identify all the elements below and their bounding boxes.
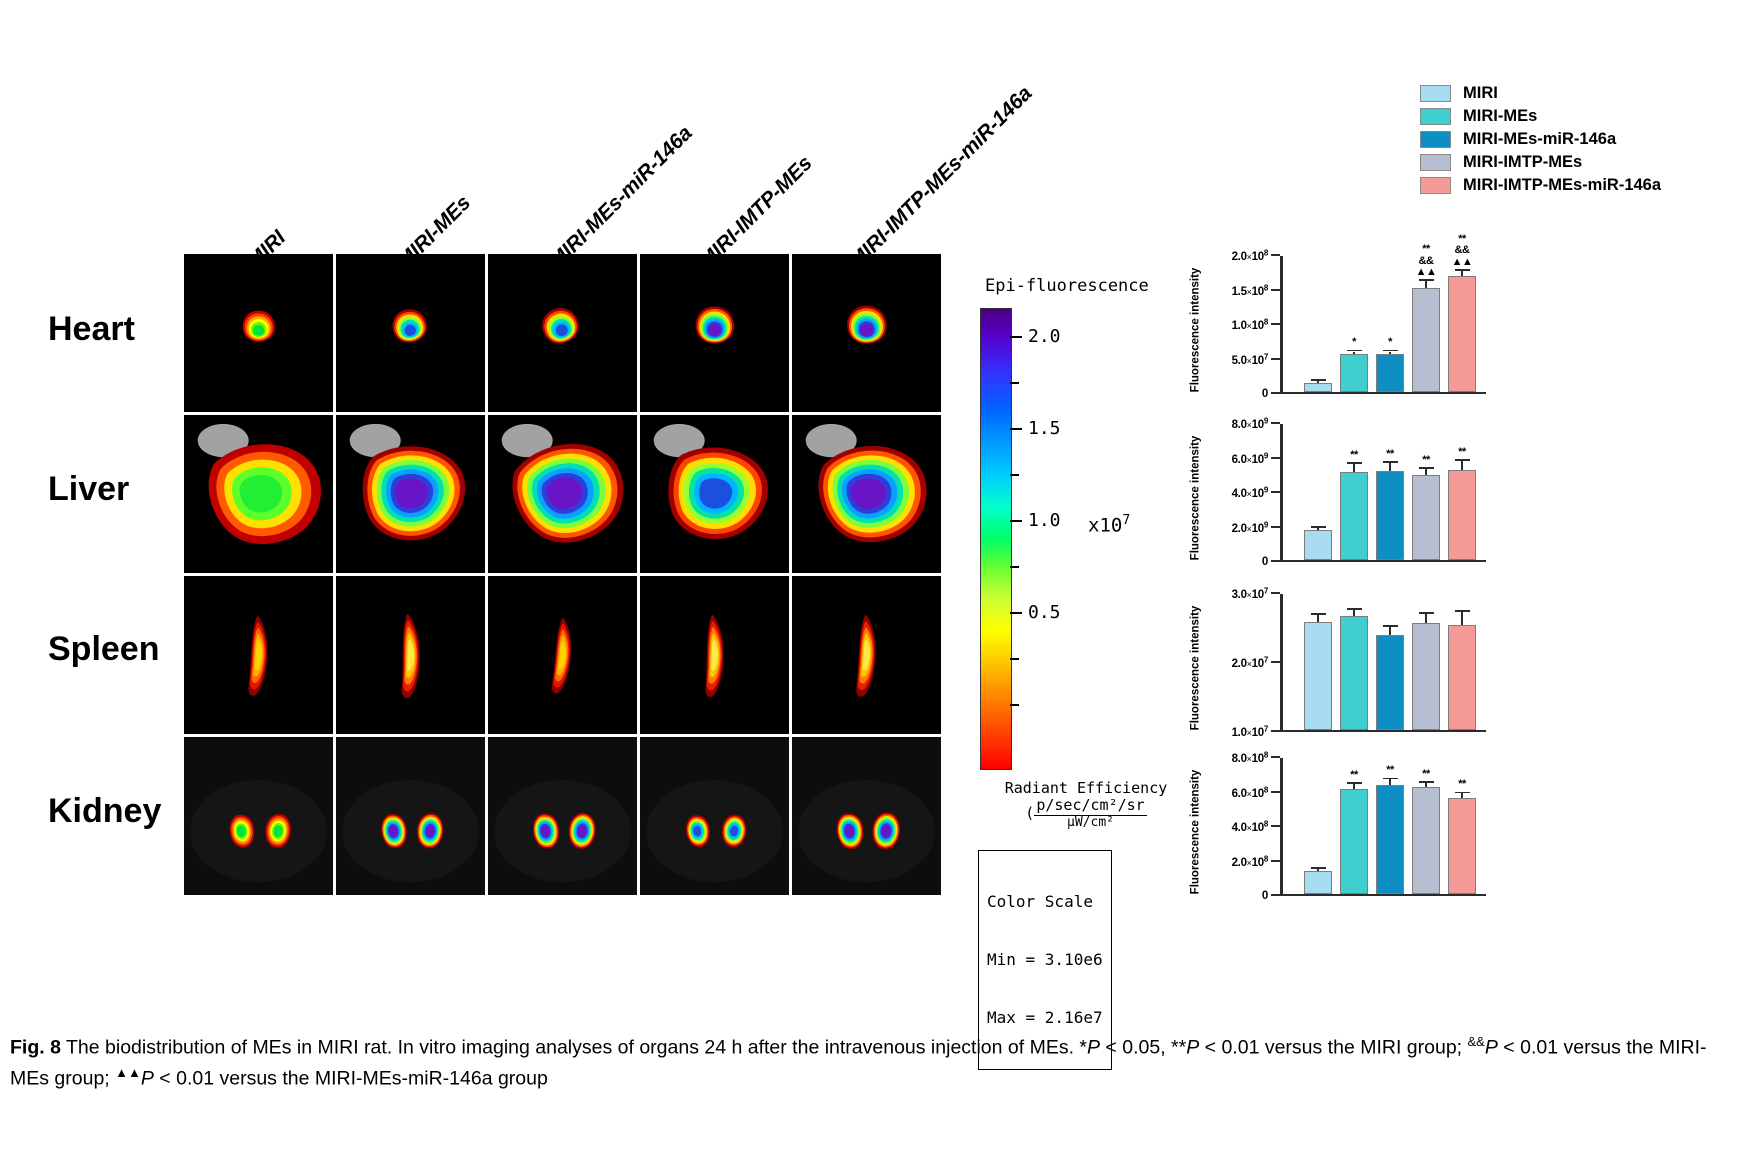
bar-liver-4[interactable] — [1448, 470, 1476, 560]
figure-panel: MIRIMIRI-MEsMIRI-MEs-miR-146aMIRI-IMTP-M… — [0, 0, 1738, 1010]
colorbar-tick-2 — [1010, 520, 1022, 522]
y-tick-label-0: 0 — [1262, 556, 1268, 568]
error-cap-spleen-4 — [1455, 610, 1470, 612]
bar-kidney-4[interactable] — [1448, 798, 1476, 894]
bar-spleen-1[interactable] — [1340, 616, 1368, 730]
error-cap-liver-0 — [1311, 526, 1326, 528]
y-axis-title-text: Fluorescence intensity — [1189, 436, 1201, 561]
organ-image-spleen-col4 — [640, 576, 792, 737]
x-axis-line — [1280, 392, 1486, 395]
caption-line1-c: < 0.01 versus the — [1199, 1037, 1355, 1059]
organ-image-kidney-col3 — [488, 737, 640, 898]
legend-swatch-1 — [1420, 108, 1451, 125]
significance-heart-2: * — [1370, 337, 1410, 348]
bar-chart-kidney: Fluorescence intensity02.0×1084.0×1086.0… — [1180, 752, 1500, 912]
bar-kidney-0[interactable] — [1304, 871, 1332, 893]
y-tick-2 — [1271, 825, 1280, 827]
caption-line1-a: The biodistribution of MEs in MIRI rat. … — [66, 1037, 1087, 1059]
bar-kidney-2[interactable] — [1376, 785, 1404, 894]
bar-chart-spleen: Fluorescence intensity1.0×1072.0×1073.0×… — [1180, 588, 1500, 748]
bar-heart-1[interactable] — [1340, 354, 1368, 392]
bar-spleen-3[interactable] — [1412, 623, 1440, 730]
y-axis-title-liver: Fluorescence intensity — [1186, 418, 1204, 578]
organ-image-spleen-col5 — [792, 576, 944, 737]
row-label-liver: Liver — [48, 470, 129, 509]
y-axis-line — [1280, 758, 1283, 896]
radiant-efficiency-denominator: µW/cm² — [1034, 816, 1146, 831]
bar-liver-1[interactable] — [1340, 472, 1368, 559]
color-scale-max: Max = 2.16e7 — [987, 1008, 1103, 1027]
legend-item-1[interactable]: MIRI-MEs — [1420, 105, 1661, 128]
y-tick-label-2: 4.0×108 — [1232, 820, 1268, 835]
epi-fluorescence-label: Epi-fluorescence — [985, 276, 1149, 296]
y-tick-label-4: 8.0×108 — [1232, 751, 1268, 766]
error-cap-heart-0 — [1311, 379, 1326, 381]
y-axis-line — [1280, 256, 1283, 394]
row-label-spleen: Spleen — [48, 630, 159, 669]
y-tick-label-0: 0 — [1262, 388, 1268, 400]
error-cap-liver-4 — [1455, 459, 1470, 461]
error-cap-spleen-3 — [1419, 612, 1434, 614]
y-tick-2 — [1271, 491, 1280, 493]
bar-chart-heart: Fluorescence intensity05.0×1071.0×1081.5… — [1180, 250, 1500, 410]
y-tick-label-3: 1.5×108 — [1232, 283, 1268, 298]
bar-heart-2[interactable] — [1376, 354, 1404, 391]
organ-image-heart-col2 — [336, 254, 488, 415]
error-bar-liver-0 — [1317, 528, 1319, 531]
colorbar-multiplier-exponent: 7 — [1122, 513, 1130, 528]
figure-caption: Fig. 8 The biodistribution of MEs in MIR… — [10, 1032, 1730, 1094]
y-tick-0 — [1271, 894, 1280, 896]
colorbar-multiplier: x107 — [1088, 513, 1130, 536]
organ-image-heart-col1 — [184, 254, 336, 415]
colorbar-minor-tick-2 — [1010, 566, 1019, 568]
error-bar-heart-2 — [1389, 352, 1391, 355]
color-scale-min: Min = 3.10e6 — [987, 950, 1103, 969]
y-tick-label-4: 8.0×109 — [1232, 417, 1268, 432]
organ-image-spleen-col1 — [184, 576, 336, 737]
error-bar-heart-4 — [1461, 271, 1463, 277]
y-tick-3 — [1271, 457, 1280, 459]
organ-image-kidney-col2 — [336, 737, 488, 898]
bar-spleen-4[interactable] — [1448, 625, 1476, 730]
significance-heart-4: **&&▲▲ — [1442, 234, 1482, 268]
legend-label-3: MIRI-IMTP-MEs — [1463, 153, 1582, 172]
plot-area-spleen: 1.0×1072.0×1073.0×107 — [1280, 594, 1486, 732]
radiant-efficiency-units: Radiant Efficiency (p/sec/cm²/srµW/cm² — [976, 780, 1196, 830]
colorbar-tick-1 — [1010, 428, 1022, 430]
y-tick-3 — [1271, 791, 1280, 793]
y-tick-0 — [1271, 730, 1280, 732]
bar-kidney-3[interactable] — [1412, 787, 1440, 894]
column-header-miri-imtp-mes-mir-146a: MIRI-IMTP-MEs-miR-146a — [845, 82, 1037, 274]
legend-item-4[interactable]: MIRI-IMTP-MEs-miR-146a — [1420, 174, 1661, 197]
error-cap-heart-3 — [1419, 279, 1434, 281]
legend-label-2: MIRI-MEs-miR-146a — [1463, 130, 1616, 149]
error-cap-heart-1 — [1347, 350, 1362, 352]
significance-kidney-1: ** — [1334, 770, 1374, 781]
y-axis-title-text: Fluorescence intensity — [1189, 268, 1201, 393]
plot-area-heart: 05.0×1071.0×1081.5×1082.0×108****&&▲▲**&… — [1280, 256, 1486, 394]
organ-image-liver-col4 — [640, 415, 792, 576]
bar-spleen-0[interactable] — [1304, 622, 1332, 730]
legend-swatch-2 — [1420, 131, 1451, 148]
bar-liver-2[interactable] — [1376, 471, 1404, 560]
organ-image-kidney-col1 — [184, 737, 336, 898]
error-bar-spleen-0 — [1317, 615, 1319, 622]
legend-label-1: MIRI-MEs — [1463, 107, 1537, 126]
y-tick-label-2: 4.0×109 — [1232, 486, 1268, 501]
error-bar-kidney-4 — [1461, 793, 1463, 797]
organ-image-kidney-col5 — [792, 737, 944, 898]
y-tick-label-2: 3.0×107 — [1232, 587, 1268, 602]
error-cap-spleen-1 — [1347, 608, 1362, 610]
organ-image-kidney-col4 — [640, 737, 792, 898]
caption-line2-c: < 0.01 versus the MIRI-MEs-miR-146a grou… — [154, 1067, 548, 1089]
legend-label-4: MIRI-IMTP-MEs-miR-146a — [1463, 176, 1661, 195]
caption-line2-sup2: ▲▲ — [115, 1065, 141, 1080]
error-bar-kidney-0 — [1317, 869, 1319, 871]
y-tick-4 — [1271, 422, 1280, 424]
legend-label-0: MIRI — [1463, 84, 1498, 103]
significance-heart-3: **&&▲▲ — [1406, 244, 1446, 278]
significance-heart-1: * — [1334, 337, 1374, 348]
error-bar-kidney-2 — [1389, 779, 1391, 785]
organ-image-liver-col5 — [792, 415, 944, 576]
error-bar-spleen-3 — [1425, 614, 1427, 622]
caption-line2-a: MIRI group; — [1360, 1037, 1467, 1059]
color-scale-title: Color Scale — [987, 892, 1103, 911]
caption-line1-p2: P — [1186, 1037, 1199, 1059]
significance-liver-3: ** — [1406, 455, 1446, 466]
y-axis-title-spleen: Fluorescence intensity — [1186, 588, 1204, 748]
y-tick-label-1: 5.0×107 — [1232, 352, 1268, 367]
colorbar-tick-label-3: 0.5 — [1028, 602, 1061, 623]
plot-area-kidney: 02.0×1084.0×1086.0×1088.0×108******** — [1280, 758, 1486, 896]
error-cap-heart-2 — [1383, 350, 1398, 352]
error-bar-heart-0 — [1317, 381, 1319, 382]
legend-swatch-0 — [1420, 85, 1451, 102]
colorbar-minor-tick-1 — [1010, 474, 1019, 476]
x-axis-line — [1280, 560, 1486, 563]
caption-line1-b: < 0.05, ** — [1100, 1037, 1186, 1059]
error-bar-kidney-1 — [1353, 784, 1355, 789]
error-bar-spleen-2 — [1389, 627, 1391, 635]
error-bar-liver-1 — [1353, 464, 1355, 473]
radiant-efficiency-paren: ( — [1025, 804, 1034, 822]
y-tick-label-0: 0 — [1262, 890, 1268, 902]
organ-image-liver-col3 — [488, 415, 640, 576]
error-bar-heart-3 — [1425, 281, 1427, 288]
caption-line1-p1: P — [1087, 1037, 1100, 1059]
error-cap-liver-2 — [1383, 461, 1398, 463]
error-cap-liver-1 — [1347, 462, 1362, 464]
significance-liver-1: ** — [1334, 450, 1374, 461]
colorbar-tick-label-0: 2.0 — [1028, 326, 1061, 347]
legend-swatch-4 — [1420, 177, 1451, 194]
colorbar-tick-label-2: 1.0 — [1028, 510, 1061, 531]
y-axis-title-kidney: Fluorescence intensity — [1186, 752, 1204, 912]
error-bar-kidney-3 — [1425, 783, 1427, 786]
y-tick-label-4: 2.0×108 — [1232, 249, 1268, 264]
error-bar-liver-3 — [1425, 469, 1427, 475]
y-tick-4 — [1271, 756, 1280, 758]
bar-chart-liver: Fluorescence intensity02.0×1094.0×1096.0… — [1180, 418, 1500, 578]
y-axis-title-text: Fluorescence intensity — [1189, 606, 1201, 731]
bar-kidney-1[interactable] — [1340, 789, 1368, 893]
colorbar-minor-tick-3 — [1010, 658, 1019, 660]
y-axis-title-text: Fluorescence intensity — [1189, 770, 1201, 895]
y-tick-1 — [1271, 860, 1280, 862]
significance-kidney-2: ** — [1370, 765, 1410, 776]
y-tick-label-0: 1.0×107 — [1232, 725, 1268, 740]
y-tick-label-1: 2.0×109 — [1232, 520, 1268, 535]
y-tick-label-3: 6.0×109 — [1232, 451, 1268, 466]
caption-line2-p1: P — [1485, 1037, 1498, 1059]
y-tick-0 — [1271, 392, 1280, 394]
y-tick-label-1: 2.0×107 — [1232, 656, 1268, 671]
radiant-efficiency-title: Radiant Efficiency — [976, 780, 1196, 797]
organ-imaging-grid — [184, 254, 944, 899]
y-tick-1 — [1271, 358, 1280, 360]
error-bar-heart-1 — [1353, 352, 1355, 354]
error-cap-spleen-0 — [1311, 613, 1326, 615]
bar-liver-3[interactable] — [1412, 475, 1440, 560]
organ-image-heart-col3 — [488, 254, 640, 415]
organ-image-heart-col4 — [640, 254, 792, 415]
colorbar-minor-tick-4 — [1010, 704, 1019, 706]
error-bar-spleen-4 — [1461, 612, 1463, 624]
y-axis-line — [1280, 424, 1283, 562]
y-tick-1 — [1271, 661, 1280, 663]
error-cap-heart-4 — [1455, 269, 1470, 271]
y-tick-0 — [1271, 560, 1280, 562]
error-cap-kidney-0 — [1311, 867, 1326, 869]
error-cap-spleen-2 — [1383, 625, 1398, 627]
y-axis-line — [1280, 594, 1283, 732]
chart-legend: MIRIMIRI-MEsMIRI-MEs-miR-146aMIRI-IMTP-M… — [1420, 82, 1661, 197]
error-cap-kidney-3 — [1419, 781, 1434, 783]
radiant-efficiency-fraction: (p/sec/cm²/srµW/cm² — [976, 797, 1196, 830]
y-tick-label-1: 2.0×108 — [1232, 854, 1268, 869]
y-tick-4 — [1271, 254, 1280, 256]
y-tick-1 — [1271, 526, 1280, 528]
y-tick-2 — [1271, 592, 1280, 594]
row-label-heart: Heart — [48, 310, 135, 349]
colorbar-minor-tick-0 — [1010, 382, 1019, 384]
y-tick-3 — [1271, 289, 1280, 291]
colorbar-block: Epi-fluorescence 2.01.51.00.5 x107 Radia… — [960, 268, 1200, 918]
error-cap-kidney-1 — [1347, 782, 1362, 784]
y-axis-title-heart: Fluorescence intensity — [1186, 250, 1204, 410]
organ-image-heart-col5 — [792, 254, 944, 415]
legend-item-3[interactable]: MIRI-IMTP-MEs — [1420, 151, 1661, 174]
caption-line2-sup1: && — [1468, 1034, 1485, 1049]
bar-spleen-2[interactable] — [1376, 635, 1404, 730]
colorbar-tick-0 — [1010, 336, 1022, 338]
colorbar-tick-label-1: 1.5 — [1028, 418, 1061, 439]
organ-image-spleen-col2 — [336, 576, 488, 737]
radiant-efficiency-frac: p/sec/cm²/srµW/cm² — [1034, 797, 1146, 830]
bar-heart-3[interactable] — [1412, 288, 1440, 392]
x-axis-line — [1280, 730, 1486, 733]
organ-image-liver-col1 — [184, 415, 336, 576]
x-axis-line — [1280, 894, 1486, 897]
y-tick-2 — [1271, 323, 1280, 325]
colorbar-multiplier-base: x10 — [1088, 514, 1122, 536]
organ-image-spleen-col3 — [488, 576, 640, 737]
error-cap-kidney-2 — [1383, 778, 1398, 780]
legend-item-2[interactable]: MIRI-MEs-miR-146a — [1420, 128, 1661, 151]
error-bar-liver-2 — [1389, 463, 1391, 471]
radiant-efficiency-numerator: p/sec/cm²/sr — [1034, 797, 1146, 815]
legend-item-0[interactable]: MIRI — [1420, 82, 1661, 105]
plot-area-liver: 02.0×1094.0×1096.0×1098.0×109******** — [1280, 424, 1486, 562]
row-label-kidney: Kidney — [48, 792, 161, 831]
column-header-miri-mes-mir-146a: MIRI-MEs-miR-146a — [545, 122, 697, 274]
organ-image-liver-col2 — [336, 415, 488, 576]
error-bar-spleen-1 — [1353, 610, 1355, 616]
bar-liver-0[interactable] — [1304, 530, 1332, 559]
colorbar-gradient — [980, 308, 1012, 770]
bar-heart-4[interactable] — [1448, 276, 1476, 391]
significance-kidney-4: ** — [1442, 779, 1482, 790]
caption-line2-p2: P — [141, 1067, 154, 1089]
legend-swatch-3 — [1420, 154, 1451, 171]
error-bar-liver-4 — [1461, 461, 1463, 470]
significance-liver-2: ** — [1370, 449, 1410, 460]
y-tick-label-3: 6.0×108 — [1232, 785, 1268, 800]
error-cap-kidney-4 — [1455, 792, 1470, 794]
y-tick-label-2: 1.0×108 — [1232, 318, 1268, 333]
colorbar-tick-3 — [1010, 612, 1022, 614]
bar-heart-0[interactable] — [1304, 383, 1332, 392]
significance-liver-4: ** — [1442, 447, 1482, 458]
error-cap-liver-3 — [1419, 467, 1434, 469]
caption-label: Fig. 8 — [10, 1037, 61, 1059]
significance-kidney-3: ** — [1406, 769, 1446, 780]
